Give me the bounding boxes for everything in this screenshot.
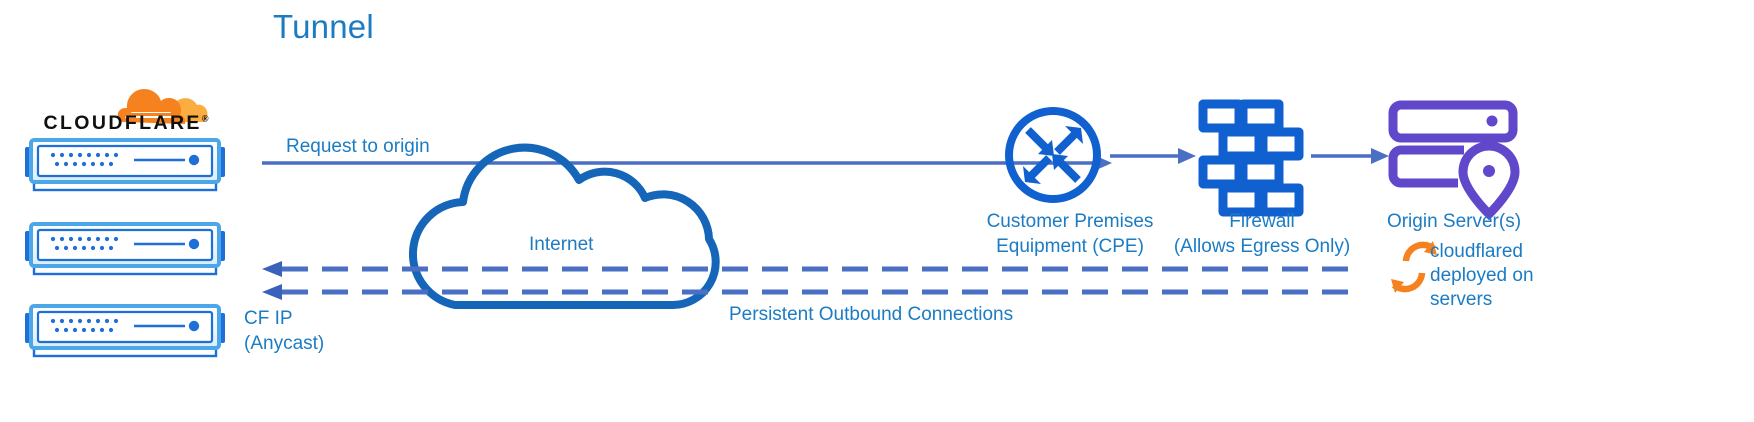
- connector-persistent-outbound-1: [262, 261, 1356, 277]
- connector-label-request-to-origin: Request to origin: [286, 134, 430, 159]
- cloudflare-wordmark: CLOUDFLARE®: [30, 112, 222, 135]
- node-label-cloudflared: cloudflared deployed on servers: [1430, 240, 1560, 312]
- node-label-firewall: Firewall (Allows Egress Only): [1157, 209, 1367, 259]
- connector-label-persistent-outbound: Persistent Outbound Connections: [729, 302, 1013, 327]
- node-label-cpe-line1: Customer Premises: [987, 211, 1154, 232]
- cloudflare-wordmark-text: CLOUDFLARE: [44, 112, 202, 134]
- connector-label-cf-ip: CF IP (Anycast): [244, 306, 374, 356]
- network-switch-icon: [22, 221, 228, 283]
- diagram-canvas: Tunnel CLOUDFLARE®: [0, 0, 1754, 422]
- node-label-firewall-line2: (Allows Egress Only): [1174, 236, 1350, 257]
- node-label-cpe-line2: Equipment (CPE): [996, 236, 1144, 257]
- network-switch-icon: [22, 137, 228, 199]
- node-label-firewall-line1: Firewall: [1229, 211, 1294, 232]
- node-label-cloudflared-line3: servers: [1430, 289, 1492, 310]
- node-label-cloudflared-line2: deployed on: [1430, 265, 1534, 286]
- connector-persistent-outbound-2: [262, 284, 1356, 300]
- cloud-outline-icon: [413, 148, 716, 305]
- brick-wall-icon: [1203, 104, 1299, 212]
- network-switch-icon: [22, 303, 228, 365]
- node-label-internet: Internet: [529, 232, 593, 257]
- connector-firewall-to-origin: [1311, 148, 1389, 164]
- registered-trademark-icon: ®: [202, 114, 209, 124]
- node-label-origin-server: Origin Server(s): [1373, 209, 1535, 234]
- connector-cpe-to-firewall: [1110, 148, 1196, 164]
- server-rack-location-pin-icon: [1393, 105, 1515, 214]
- node-label-cloudflared-line1: cloudflared: [1430, 241, 1523, 262]
- page-title: Tunnel: [273, 8, 374, 46]
- converging-arrows-circle-icon: [1009, 111, 1097, 199]
- connector-label-cf-ip-line2: (Anycast): [244, 333, 324, 354]
- connector-label-cf-ip-line1: CF IP: [244, 308, 293, 329]
